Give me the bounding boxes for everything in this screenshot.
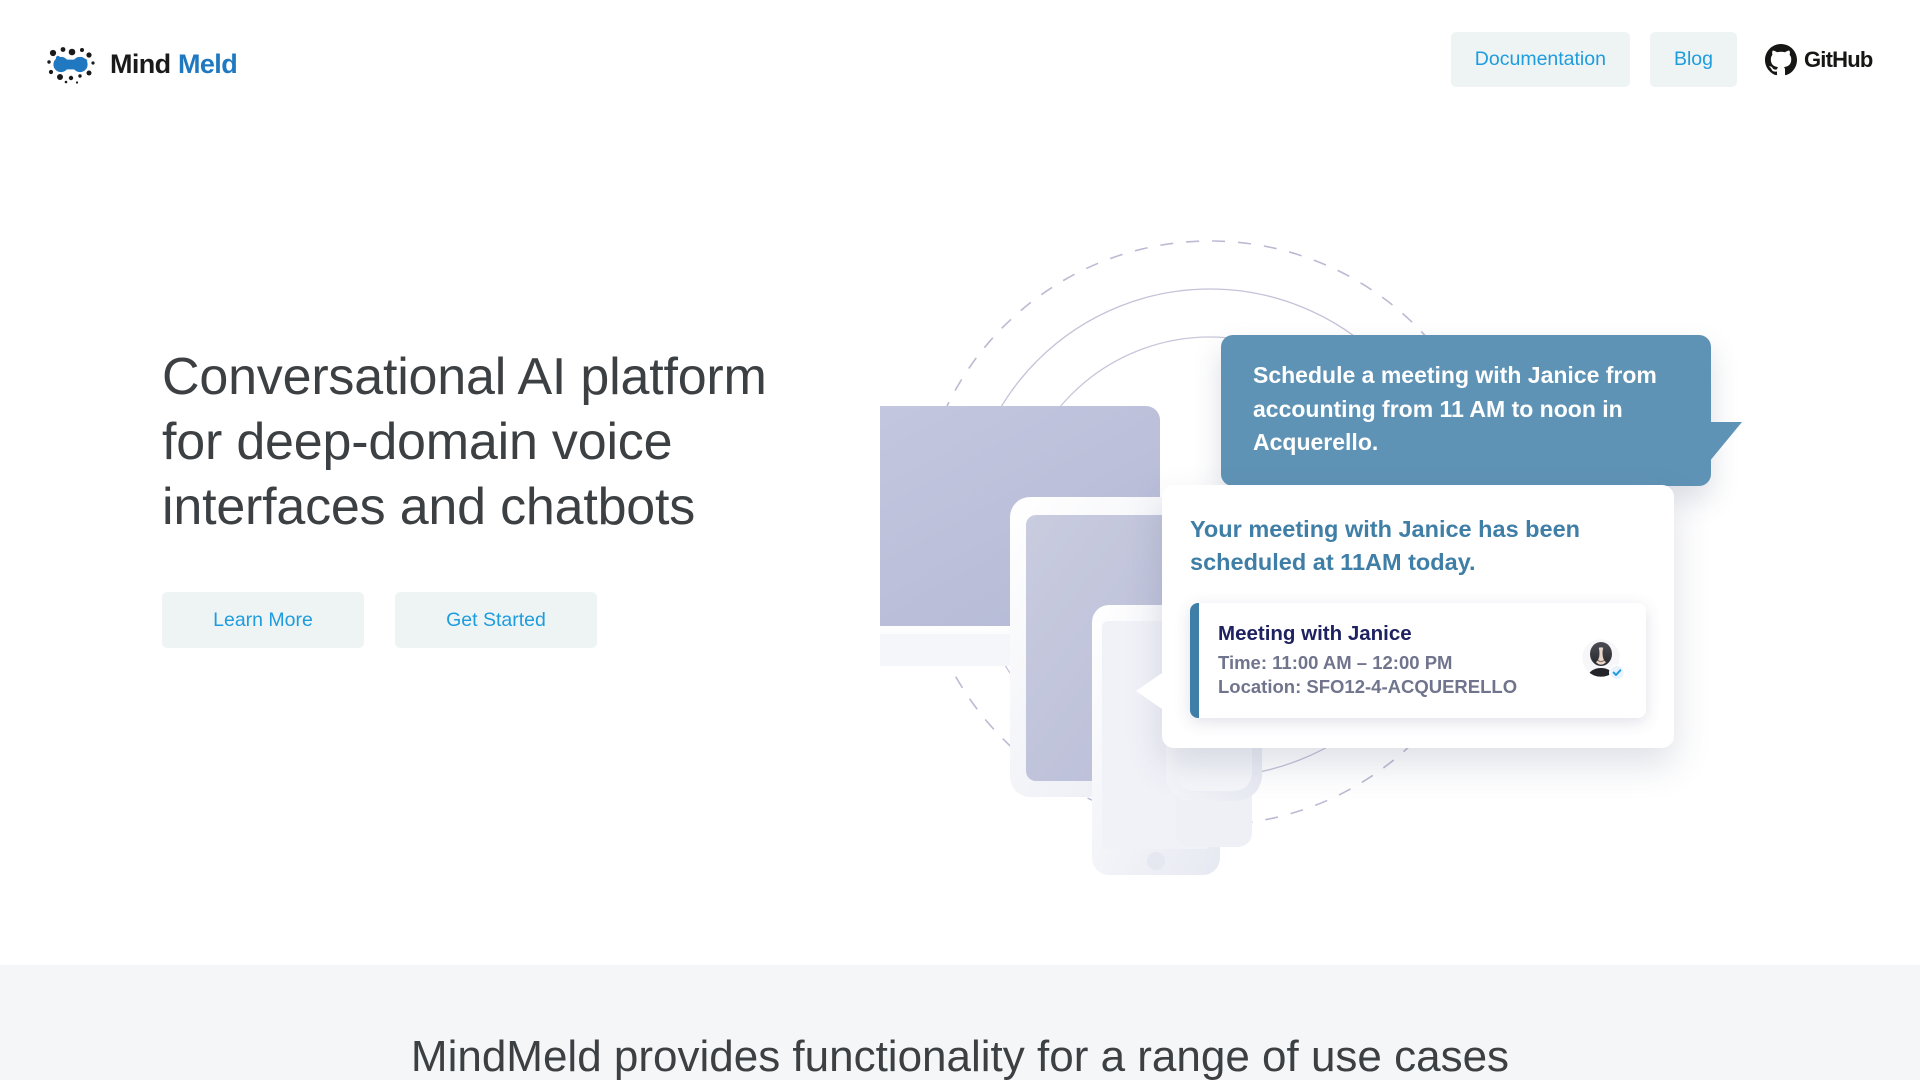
hero-cta-group: Learn More Get Started [162,592,597,648]
hero-section: Conversational AI platform for deep-doma… [0,130,1920,965]
get-started-button[interactable]: Get Started [395,592,597,648]
hero-copy: Conversational AI platform for deep-doma… [162,345,822,540]
svg-text:GitHub: GitHub [1804,48,1873,71]
github-mark-icon [1765,44,1797,76]
hero-illustration: Schedule a meeting with Janice from acco… [880,185,1840,925]
meeting-event-card: Meeting with Janice Time: 11:00 AM – 12:… [1190,603,1646,718]
verified-check-icon [1609,664,1625,680]
github-wordmark: GitHub [1804,48,1882,71]
svg-text:Mind: Mind [110,49,171,79]
event-accent-bar [1190,603,1199,718]
page-title: Conversational AI platform for deep-doma… [162,345,822,540]
use-cases-section: MindMeld provides functionality for a ra… [0,965,1920,1080]
nav-item-documentation[interactable]: Documentation [1451,32,1630,87]
site-header: Mind Meld Documentation Blog GitHub [0,0,1920,130]
event-details: Meeting with Janice Time: 11:00 AM – 12:… [1218,620,1570,699]
event-time: Time: 11:00 AM – 12:00 PM [1218,651,1570,675]
assistant-reply-headline: Your meeting with Janice has been schedu… [1190,513,1646,579]
event-title: Meeting with Janice [1218,620,1570,648]
learn-more-button[interactable]: Learn More [162,592,364,648]
user-message-text: Schedule a meeting with Janice from acco… [1253,362,1657,455]
assistant-reply-card: Your meeting with Janice has been schedu… [1162,485,1674,748]
brand-logo-link[interactable]: Mind Meld [44,44,256,84]
brand-wordmark: Mind Meld [110,49,256,79]
event-location: Location: SFO12-4-ACQUERELLO [1218,675,1570,699]
nav-item-blog[interactable]: Blog [1650,32,1737,87]
avatar [1580,637,1626,683]
user-message-bubble: Schedule a meeting with Janice from acco… [1221,335,1711,486]
mindmeld-dots-icon [44,44,98,84]
nav-item-github[interactable]: GitHub [1765,32,1882,87]
use-cases-heading: MindMeld provides functionality for a ra… [0,1027,1920,1080]
primary-nav: Documentation Blog GitHub [1451,32,1882,87]
svg-text:Meld: Meld [178,49,237,79]
nav-spacer [1630,59,1650,60]
